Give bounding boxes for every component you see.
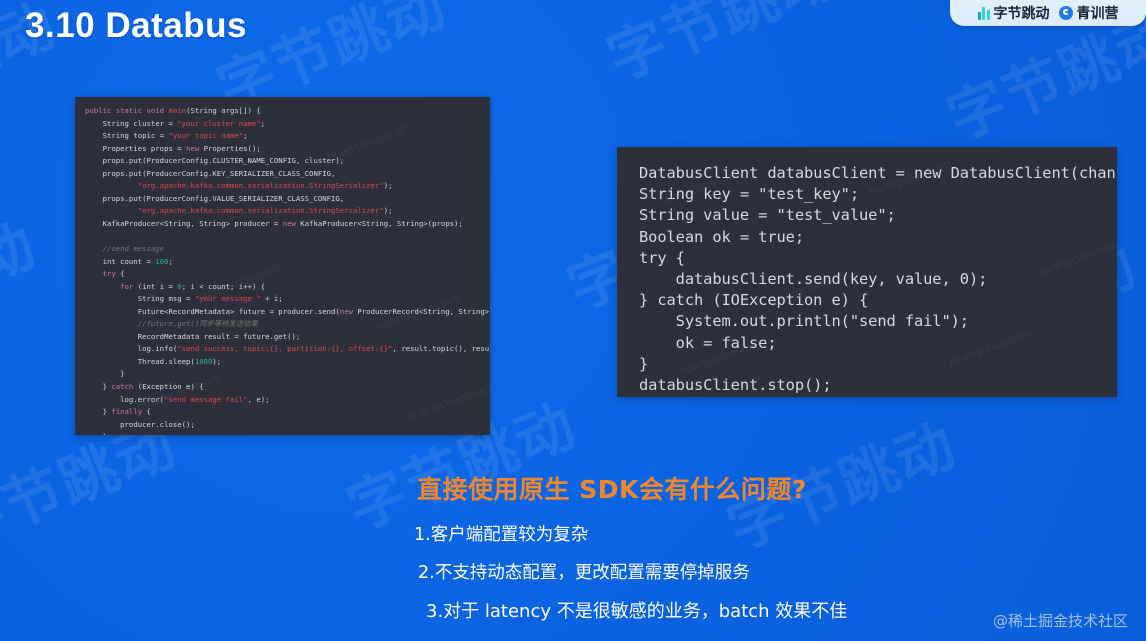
code-line: } catch (Exception e) { [85,381,490,394]
code-line: ok = false; [639,333,1117,354]
code-line: "org.apache.kafka.common.serialization.S… [85,205,490,218]
code-line: String cluster = "your cluster name"; [85,118,490,131]
code-line: KafkaProducer<String, String> producer =… [85,218,490,231]
slide-root: 字节跳动字节跳动字节跳动字节跳动字节跳动字节跳动字节跳动字节跳动字节跳动字节跳动… [0,0,1146,641]
code-line: Properties props = new Properties(); [85,143,490,156]
background-watermark: 字节跳动 [0,198,47,366]
problem-list: 1.客户端配置较为复杂 2.不支持动态配置，更改配置需要停掉服务 3.对于 la… [414,521,847,636]
list-item: 3.对于 latency 不是很敏感的业务，batch 效果不佳 [426,597,847,623]
code-line: RecordMetadata result = future.get(); [85,331,490,344]
code-line: log.error("send message fail", e); [85,394,490,407]
brand-bytedance: 字节跳动 [978,3,1050,23]
page-title: 3.10 Databus [25,6,247,46]
brand-badge: 字节跳动 青训营 [950,0,1146,26]
code-line: //future.get()同步等待发送结果 [85,318,490,331]
list-item: 2.不支持动态配置，更改配置需要停掉服务 [418,559,847,584]
code-line: "org.apache.kafka.common.serialization.S… [85,180,490,193]
code-line: } [85,368,490,381]
code-line: } [85,431,490,435]
databus-client-code-block: DatabusClient databusClient = new Databu… [617,147,1117,397]
circle-logo-icon [1059,6,1073,20]
code-line: databusClient.stop(); [639,375,1117,396]
code-line: String msg = "your message " + i; [85,293,490,306]
code-line: public static void main(String args[]) { [85,105,490,118]
code-line: DatabusClient databusClient = new Databu… [639,163,1117,184]
code-line: Future<RecordMetadata> future = producer… [85,306,490,319]
code-line: String topic = "your topic name"; [85,130,490,143]
brand-bytedance-label: 字节跳动 [994,3,1050,23]
code-line: log.info("send success, topic:{}, partit… [85,343,490,356]
code-line: props.put(ProducerConfig.VALUE_SERIALIZE… [85,193,490,206]
code-line: } finally { [85,406,490,419]
code-line: int count = 100; [85,256,490,269]
code-line: //send message [85,243,490,256]
code-line: String value = "test_value"; [639,205,1117,226]
databus-code-lines: DatabusClient databusClient = new Databu… [639,163,1117,396]
code-line: databusClient.send(key, value, 0); [639,269,1117,290]
code-line: } [639,354,1117,375]
code-line: String key = "test_key"; [639,184,1117,205]
brand-camp: 青训营 [1059,3,1119,23]
code-line: System.out.println("send fail"); [639,311,1117,332]
brand-camp-label: 青训营 [1077,3,1119,23]
background-watermark: 字节跳动 [593,0,847,96]
kafka-producer-code-block: public static void main(String args[]) {… [75,97,490,435]
code-line: props.put(ProducerConfig.CLUSTER_NAME_CO… [85,155,490,168]
kafka-code-lines: public static void main(String args[]) {… [85,105,490,435]
bar-chart-icon [978,7,990,20]
code-line: try { [639,248,1117,269]
code-line [85,230,490,243]
code-line: Boolean ok = true; [639,227,1117,248]
code-line: for (int i = 0; i < count; i++) { [85,281,490,294]
question-heading: 直接使用原生 SDK会有什么问题? [417,470,807,506]
code-line: props.put(ProducerConfig.KEY_SERIALIZER_… [85,168,490,181]
code-line: producer.close(); [85,419,490,432]
list-item: 1.客户端配置较为复杂 [414,521,847,546]
code-line: } catch (IOException e) { [639,290,1117,311]
code-line: try { [85,268,490,281]
site-watermark: @稀土掘金技术社区 [993,610,1128,631]
code-line: Thread.sleep(1000); [85,356,490,369]
